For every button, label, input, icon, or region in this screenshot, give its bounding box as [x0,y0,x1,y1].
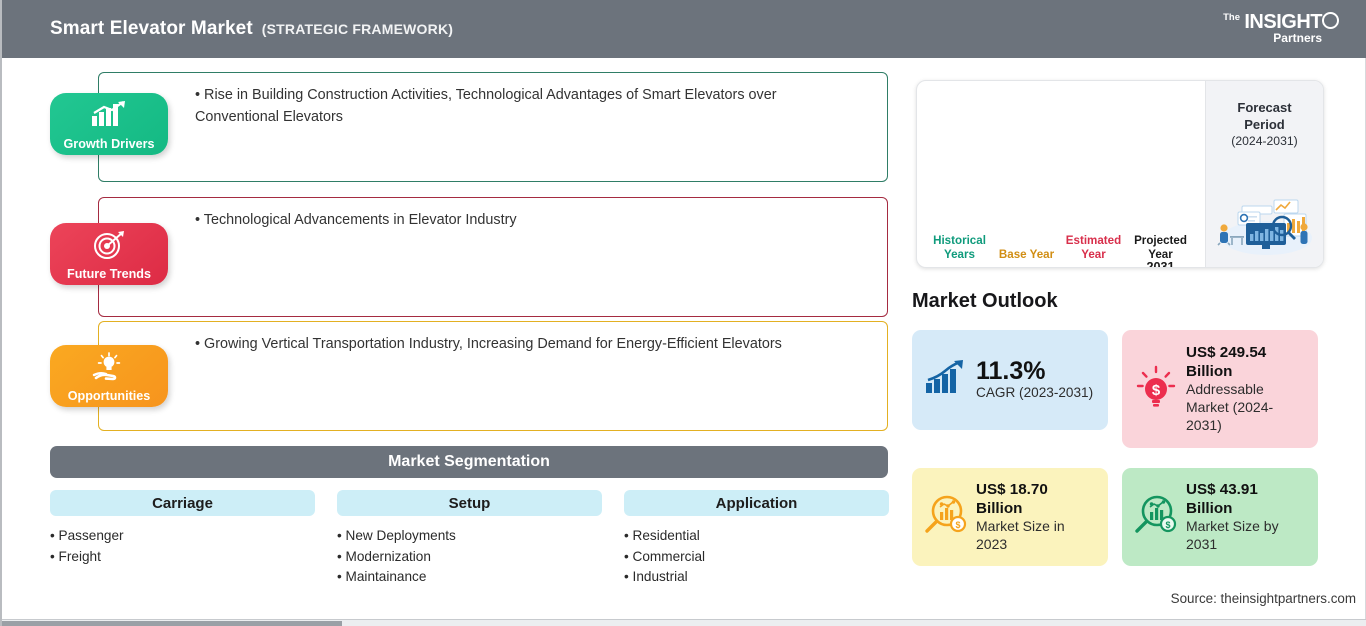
forecast-period-years: (2024-2031) [1210,134,1319,148]
size2031-amount-line1: US$ 43.91 [1186,480,1308,499]
dollar-bulb-icon: $ [1132,364,1180,415]
size2023-amount-line2: Billion [976,499,1098,518]
list-item: New Deployments [337,526,602,547]
timeline-caption-0: Historical Years [922,234,997,261]
badge-growth-drivers[interactable]: Growth Drivers [50,93,168,155]
logo-partners-text: Partners [1273,31,1322,45]
timeline-caption-3: Projected Year [1123,234,1198,261]
size2023-amount-line1: US$ 18.70 [976,480,1098,499]
tam-amount-line1: US$ 249.54 [1186,343,1308,362]
stat-card-market-size-2031-text: US$ 43.91 Billion Market Size by 2031 [1180,480,1308,554]
list-item: Residential [624,526,889,547]
cagr-value: 11.3% [976,358,1098,384]
segmentation-header-setup: Setup [337,490,602,516]
badge-growth-drivers-label: Growth Drivers [64,137,155,151]
svg-text:$: $ [955,520,960,530]
tam-label: Addressable Market (2024-2031) [1186,381,1308,435]
growth-drivers-bullet: Rise in Building Construction Activities… [195,85,855,129]
timeline-caption-2: Estimated Year [1056,234,1131,261]
market-segmentation-title: Market Segmentation [50,446,888,478]
tam-amount-line2: Billion [1186,362,1308,381]
insight-partners-logo: The INSIGHT Partners [1214,9,1344,51]
future-trends-box: Technological Advancements in Elevator I… [98,197,888,317]
segmentation-column-application: Application Residential Commercial Indus… [624,490,889,588]
timeline-bars: 2021-2022 Historical Years 2023 [931,81,1205,268]
stat-card-market-size-2023: $ US$ 18.70 Billion Market Size in 2023 [912,468,1108,566]
segmentation-header-application: Application [624,490,889,516]
source-attribution: Source: theinsightpartners.com [1171,591,1356,606]
size2023-label: Market Size in 2023 [976,518,1098,554]
list-item: Freight [50,547,315,568]
timeline-year-3: 2031 [1124,260,1197,268]
badge-future-trends[interactable]: Future Trends [50,223,168,285]
segmentation-list-application: Residential Commercial Industrial [624,526,889,588]
opportunities-box: Growing Vertical Transportation Industry… [98,321,888,431]
segmentation-header-carriage: Carriage [50,490,315,516]
timeline-caption-1: Base Year [989,248,1064,262]
target-dart-icon [50,230,168,265]
list-item: Industrial [624,567,889,588]
segmentation-column-setup: Setup New Deployments Modernization Main… [337,490,602,588]
lightbulb-hand-icon [50,352,168,389]
framework-column: Rise in Building Construction Activities… [2,58,902,626]
growth-drivers-box: Rise in Building Construction Activities… [98,72,888,182]
segmentation-column-carriage: Carriage Passenger Freight [50,490,315,567]
bar-chart-up-icon [50,100,168,133]
analytics-people-illustration [1212,190,1318,261]
segmentation-list-carriage: Passenger Freight [50,526,315,567]
scrollbar-thumb[interactable] [2,621,342,626]
stat-card-market-size-2031: $ US$ 43.91 Billion Market Size by 2031 [1122,468,1318,566]
page-header: Smart Elevator Market (STRATEGIC FRAMEWO… [2,0,1366,58]
market-outlook-title: Market Outlook [912,290,1058,313]
svg-text:$: $ [1152,382,1161,399]
magnifier-bar-dollar-icon: $ [922,494,970,541]
forecast-title-line2: Period [1244,117,1284,132]
cagr-label: CAGR (2023-2031) [976,384,1098,402]
list-item: Maintainance [337,567,602,588]
stat-card-cagr: 11.3% CAGR (2023-2031) [912,330,1108,430]
forecast-period-panel: Forecast Period (2024-2031) [1205,81,1323,268]
size2031-label: Market Size by 2031 [1186,518,1308,554]
outlook-column: 2021-2022 Historical Years 2023 [902,58,1366,626]
list-item: Passenger [50,526,315,547]
badge-opportunities-label: Opportunities [68,389,151,403]
list-item: Commercial [624,547,889,568]
badge-future-trends-label: Future Trends [67,267,151,281]
stat-card-market-size-2023-text: US$ 18.70 Billion Market Size in 2023 [970,480,1098,554]
growth-bar-arrow-icon [922,360,970,401]
opportunities-bullet: Growing Vertical Transportation Industry… [195,334,855,356]
stat-card-addressable-market-text: US$ 249.54 Billion Addressable Market (2… [1180,343,1308,435]
size2031-amount-line2: Billion [1186,499,1308,518]
future-trends-bullet: Technological Advancements in Elevator I… [195,210,855,232]
forecast-title-line1: Forecast [1237,100,1291,115]
logo-the-text: The [1223,12,1240,23]
page-title: Smart Elevator Market [50,18,253,40]
horizontal-scrollbar[interactable] [2,619,1366,626]
page-subtitle: (STRATEGIC FRAMEWORK) [262,21,453,37]
forecast-period-title: Forecast Period [1210,99,1319,133]
stat-card-cagr-text: 11.3% CAGR (2023-2031) [970,358,1098,402]
forecast-timeline-chart: 2021-2022 Historical Years 2023 [916,80,1324,268]
list-item: Modernization [337,547,602,568]
svg-text:$: $ [1165,520,1170,530]
segmentation-list-setup: New Deployments Modernization Maintainan… [337,526,602,588]
magnifier-bar-dollar-icon: $ [1132,494,1180,541]
badge-opportunities[interactable]: Opportunities [50,345,168,407]
stat-card-addressable-market: $ US$ 249.54 Billion Addressable Market … [1122,330,1318,448]
infographic-page: Smart Elevator Market (STRATEGIC FRAMEWO… [0,0,1366,626]
logo-circle-mark [1322,12,1339,29]
